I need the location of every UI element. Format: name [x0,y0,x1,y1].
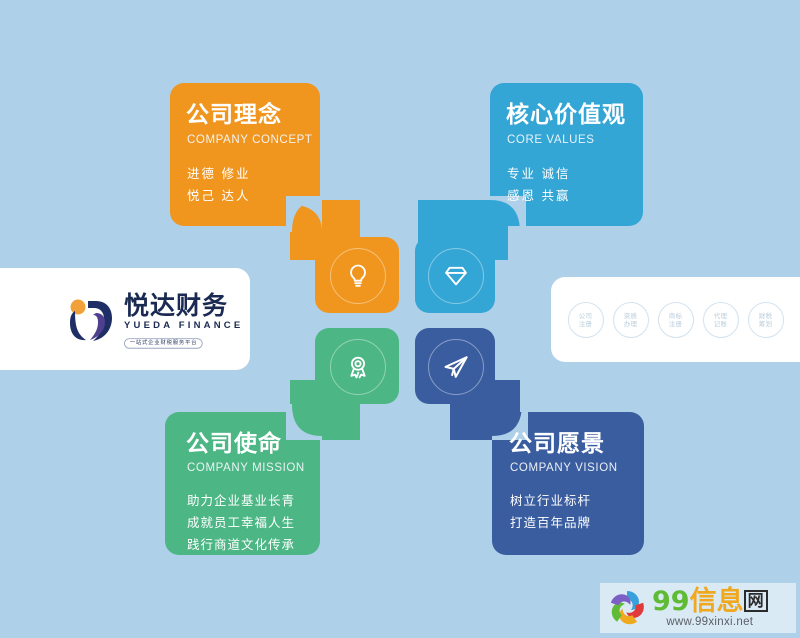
company-logo: 悦达财务 YUEDA FINANCE 一站式企业财税服务平台 [66,292,246,350]
watermark-net-char: 网 [744,590,768,612]
pinwheel-logo-icon [604,587,650,629]
card-line: 成就员工幸福人生 [187,512,295,534]
medal-icon [330,339,386,395]
service-badge-company-registration[interactable]: 公司 注册 [568,302,604,338]
watermark: 99信息网 www.99xinxi.net [600,583,796,633]
card-line: 感恩 共赢 [507,185,570,207]
card-subtitle: COMPANY CONCEPT [187,135,313,147]
card-title: 公司理念 [186,103,282,126]
logo-tagline: 一站式企业财税服务平台 [124,338,203,348]
card-line: 悦己 达人 [187,185,250,207]
badge-line-2: 记账 [714,320,728,328]
card-subtitle: CORE VALUES [507,135,595,147]
card-title: 公司愿景 [509,432,605,455]
badge-line-2: 办理 [624,320,638,328]
card-subtitle: COMPANY MISSION [187,463,305,475]
service-badge-bookkeeping[interactable]: 代理 记账 [703,302,739,338]
card-line: 树立行业标杆 [510,490,591,512]
notch-curve [286,404,322,440]
card-line: 专业 诚信 [507,163,570,185]
watermark-digits: 99 [652,586,690,617]
badge-line-1: 资质 [624,312,638,320]
lightbulb-icon [330,248,386,304]
service-badge-trademark[interactable]: 商标 注册 [658,302,694,338]
watermark-word: 信息 [690,586,744,617]
badge-line-1: 公司 [579,312,593,320]
card-lines: 助力企业基业长青 成就员工幸福人生 践行商道文化传承 [187,490,295,556]
service-badge-tax-planning[interactable]: 财税 筹划 [748,302,784,338]
card-line: 助力企业基业长青 [187,490,295,512]
watermark-url: www.99xinxi.net [652,617,768,629]
card-lines: 专业 诚信 感恩 共赢 [507,163,570,207]
card-line: 打造百年品牌 [510,512,591,534]
yueda-monogram-icon [66,296,118,346]
paper-plane-icon [428,339,484,395]
card-title: 核心价值观 [506,103,626,126]
badge-line-2: 筹划 [759,320,773,328]
card-lines: 树立行业标杆 打造百年品牌 [510,490,591,534]
service-badge-qualification[interactable]: 资质 办理 [613,302,649,338]
logo-name-en: YUEDA FINANCE [124,321,243,331]
notch-curve [286,196,322,232]
badge-line-1: 代理 [714,312,728,320]
badge-line-1: 商标 [669,312,683,320]
card-title: 公司使命 [186,432,282,455]
card-subtitle: COMPANY VISION [510,463,618,475]
diamond-icon [428,248,484,304]
logo-name-cn: 悦达财务 [124,293,243,318]
watermark-brand: 99信息网 [652,588,768,615]
infographic-canvas: 公司理念 COMPANY CONCEPT 进德 修业 悦己 达人 核心价值观 C… [0,0,800,638]
badge-line-2: 注册 [579,320,593,328]
card-line: 进德 修业 [187,163,250,185]
services-panel: 公司 注册 资质 办理 商标 注册 代理 记账 财税 筹划 [551,277,800,362]
badge-line-1: 财税 [759,312,773,320]
card-lines: 进德 修业 悦己 达人 [187,163,250,207]
badge-line-2: 注册 [669,320,683,328]
card-line: 践行商道文化传承 [187,534,295,556]
